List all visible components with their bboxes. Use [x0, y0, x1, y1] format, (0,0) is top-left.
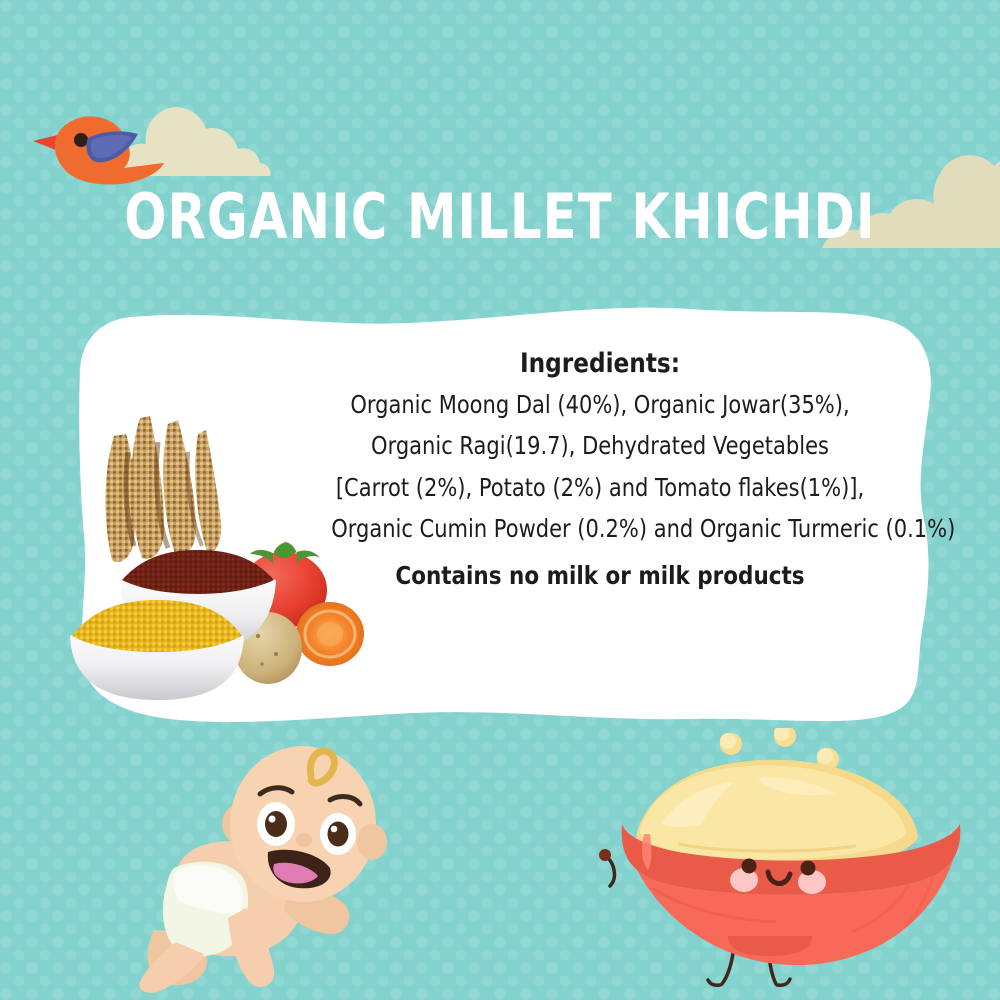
ingredients-photo: [62, 408, 382, 700]
ingredients-heading: Ingredients:: [325, 348, 875, 380]
smiling-porridge-bowl-character: [578, 728, 1000, 1000]
page-title: ORGANIC MILLET KHICHDI: [100, 186, 900, 248]
bird-eye-icon: [74, 133, 88, 147]
ingredients-line-1: Organic Moong Dal (40%), Organic Jowar(3…: [331, 384, 869, 426]
ingredients-line-4: Organic Cumin Powder (0.2%) and Organic …: [331, 508, 869, 550]
ingredients-line-2: Organic Ragi(19.7), Dehydrated Vegetable…: [331, 425, 869, 467]
ingredients-footnote: Contains no milk or milk products: [325, 556, 875, 596]
bowl-eye-right: [801, 861, 816, 876]
poster-canvas: ORGANIC MILLET KHICHDI Ingredients: Orga…: [0, 0, 1000, 1000]
carrot-slice: [296, 602, 364, 666]
bowl-eye-left: [742, 859, 757, 874]
ingredients-line-3: [Carrot (2%), Potato (2%) and Tomato fla…: [331, 467, 869, 509]
crawling-baby-illustration: [118, 742, 408, 994]
moong-dal-bowl: [70, 600, 244, 700]
millet-stalks: [105, 416, 221, 562]
